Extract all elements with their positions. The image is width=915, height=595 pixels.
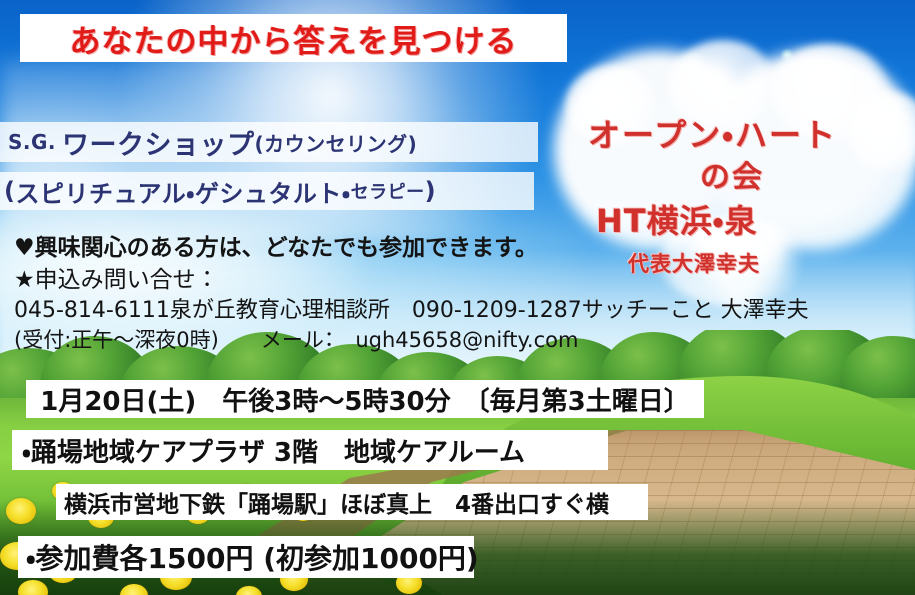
event-station-banner: 横浜市営地下鉄「踊場駅」ほぼ真上 4番出口すぐ横 xyxy=(56,484,648,520)
subtitle-main: スピリチュアル・ゲシュタルト・ xyxy=(15,174,350,209)
workshop-main: ワークショップ xyxy=(56,123,255,162)
flower-icon xyxy=(120,584,148,595)
flower-icon xyxy=(6,498,36,524)
note-contact: 045-814-6111泉が丘教育心理相談所 090-1209-1287サッチー… xyxy=(14,292,809,324)
poster-canvas: あなたの中から答えを見つける S.G. ワークショップ (カウンセリング) ( … xyxy=(0,0,915,595)
event-fee-text: ・参加費各1500円 (初参加1000円) xyxy=(26,537,479,577)
headline-banner: あなたの中から答えを見つける xyxy=(20,14,567,62)
subtitle-open-paren: ( xyxy=(4,177,15,205)
subtitle-close-paren: ) xyxy=(425,177,436,205)
workshop-title-band: S.G. ワークショップ (カウンセリング) xyxy=(0,122,538,162)
subtitle-small: セラピー xyxy=(351,178,425,204)
subtitle-band: ( スピリチュアル・ゲシュタルト・ セラピー ) xyxy=(0,172,534,210)
event-venue-banner: ・踊場地域ケアプラザ 3階 地域ケアルーム xyxy=(12,430,608,470)
workshop-prefix: S.G. xyxy=(8,130,56,154)
note-apply: ★申込み問い合せ： xyxy=(14,260,219,294)
event-date-text: 1月20日(土) 午後3時〜5時30分 〔毎月第3土曜日〕 xyxy=(40,381,690,418)
group-name-line3: HT横浜・泉 xyxy=(596,196,758,242)
note-mail: (受付:正午〜深夜0時) メール： ugh45658@nifty.com xyxy=(14,324,578,354)
note-interest: ♥興味関心のある方は、どなたでも参加できます。 xyxy=(14,228,538,262)
group-name-line2: の会 xyxy=(700,152,764,196)
flower-icon xyxy=(18,580,48,595)
headline-text: あなたの中から答えを見つける xyxy=(70,16,518,61)
event-station-text: 横浜市営地下鉄「踊場駅」ほぼ真上 4番出口すぐ横 xyxy=(64,485,609,519)
workshop-paren: (カウンセリング) xyxy=(255,128,418,157)
group-name-line1: オープン・ハート xyxy=(588,110,837,156)
event-date-banner: 1月20日(土) 午後3時〜5時30分 〔毎月第3土曜日〕 xyxy=(26,380,704,418)
flower-icon xyxy=(236,586,262,595)
group-representative: 代表大澤幸夫 xyxy=(628,248,760,278)
event-venue-text: ・踊場地域ケアプラザ 3階 地域ケアルーム xyxy=(22,432,525,469)
event-fee-banner: ・参加費各1500円 (初参加1000円) xyxy=(18,536,474,578)
